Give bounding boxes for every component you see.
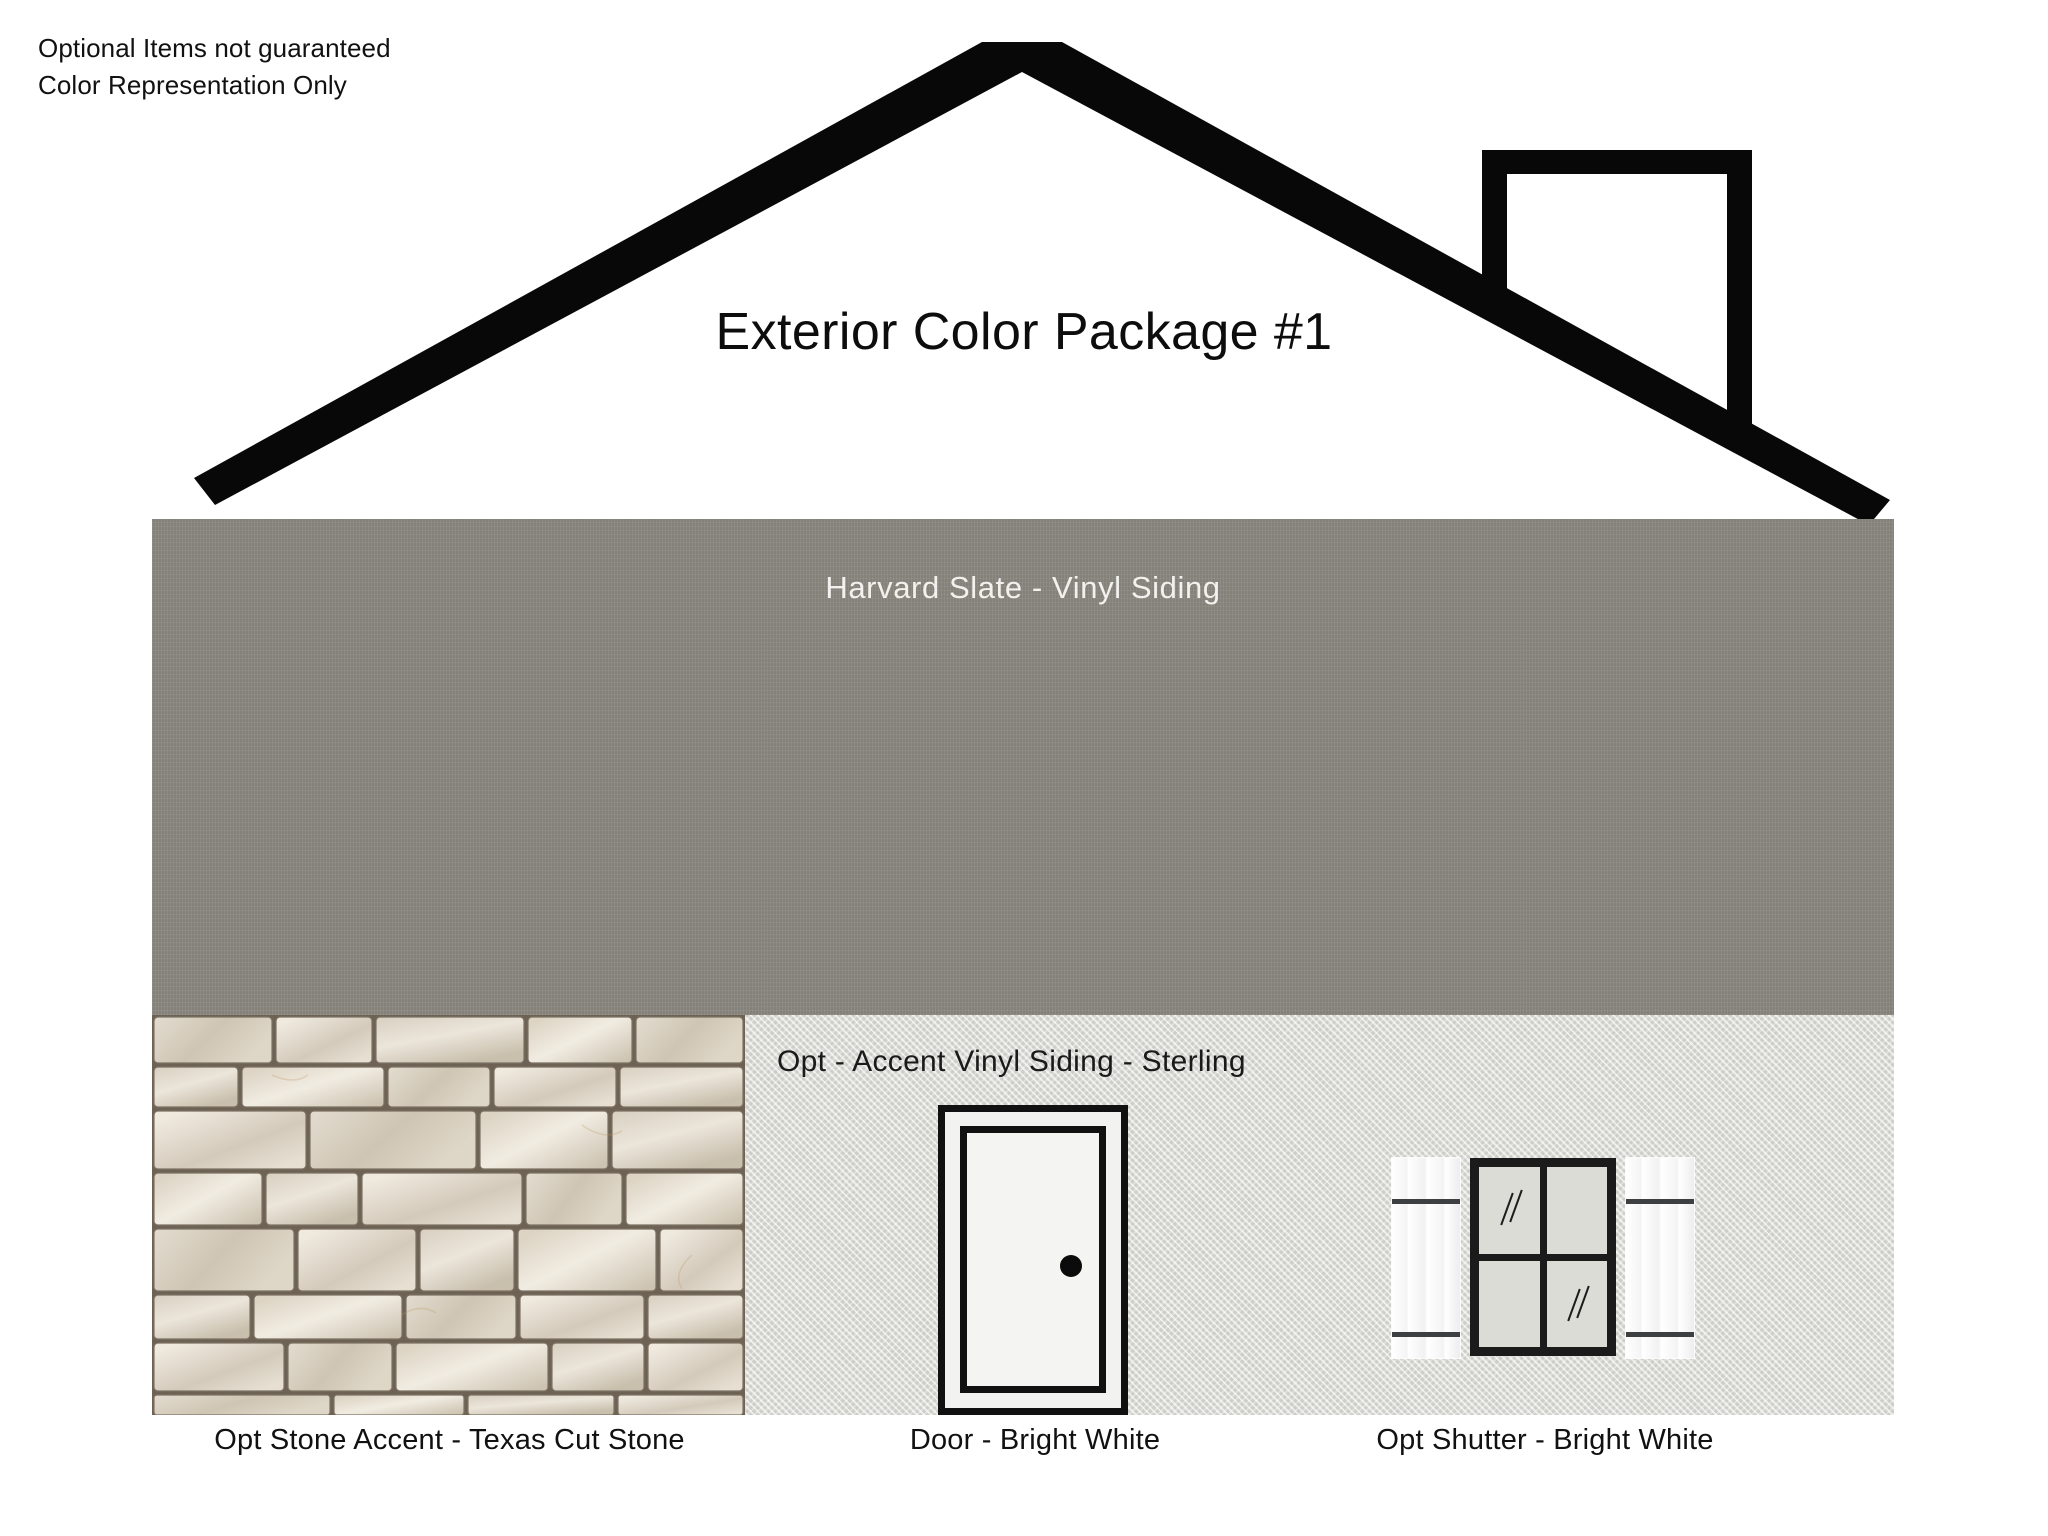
shutter-left bbox=[1392, 1158, 1460, 1358]
door-knob-icon bbox=[1060, 1255, 1082, 1277]
shutter-band-top bbox=[1626, 1199, 1694, 1204]
chimney-icon bbox=[1482, 150, 1752, 440]
window-frame bbox=[1470, 1158, 1616, 1356]
stone-accent-swatch bbox=[152, 1015, 745, 1415]
shutter-band-bottom bbox=[1392, 1332, 1460, 1337]
roof-gable-line bbox=[194, 42, 1890, 525]
caption-stone-accent: Opt Stone Accent - Texas Cut Stone bbox=[172, 1424, 727, 1457]
shutter-band-top bbox=[1392, 1199, 1460, 1204]
door-graphic bbox=[938, 1105, 1128, 1415]
shutter-band-bottom bbox=[1626, 1332, 1694, 1337]
exterior-color-package-board: Optional Items not guaranteed Color Repr… bbox=[0, 0, 2048, 1536]
page-title: Exterior Color Package #1 bbox=[0, 302, 2048, 362]
window-mullion-horizontal bbox=[1479, 1254, 1607, 1261]
siding-main-swatch: Harvard Slate - Vinyl Siding bbox=[152, 519, 1894, 1015]
siding-main-label: Harvard Slate - Vinyl Siding bbox=[152, 570, 1894, 606]
window-shutter-assembly bbox=[1392, 1158, 1694, 1360]
caption-shutter: Opt Shutter - Bright White bbox=[1330, 1424, 1760, 1457]
caption-door: Door - Bright White bbox=[830, 1424, 1240, 1457]
shutter-right bbox=[1626, 1158, 1694, 1358]
door-inner-panel bbox=[960, 1126, 1106, 1393]
stone-texture-icon bbox=[152, 1015, 745, 1415]
siding-accent-label: Opt - Accent Vinyl Siding - Sterling bbox=[777, 1045, 1246, 1079]
roof-outline-graphic bbox=[0, 0, 2048, 540]
